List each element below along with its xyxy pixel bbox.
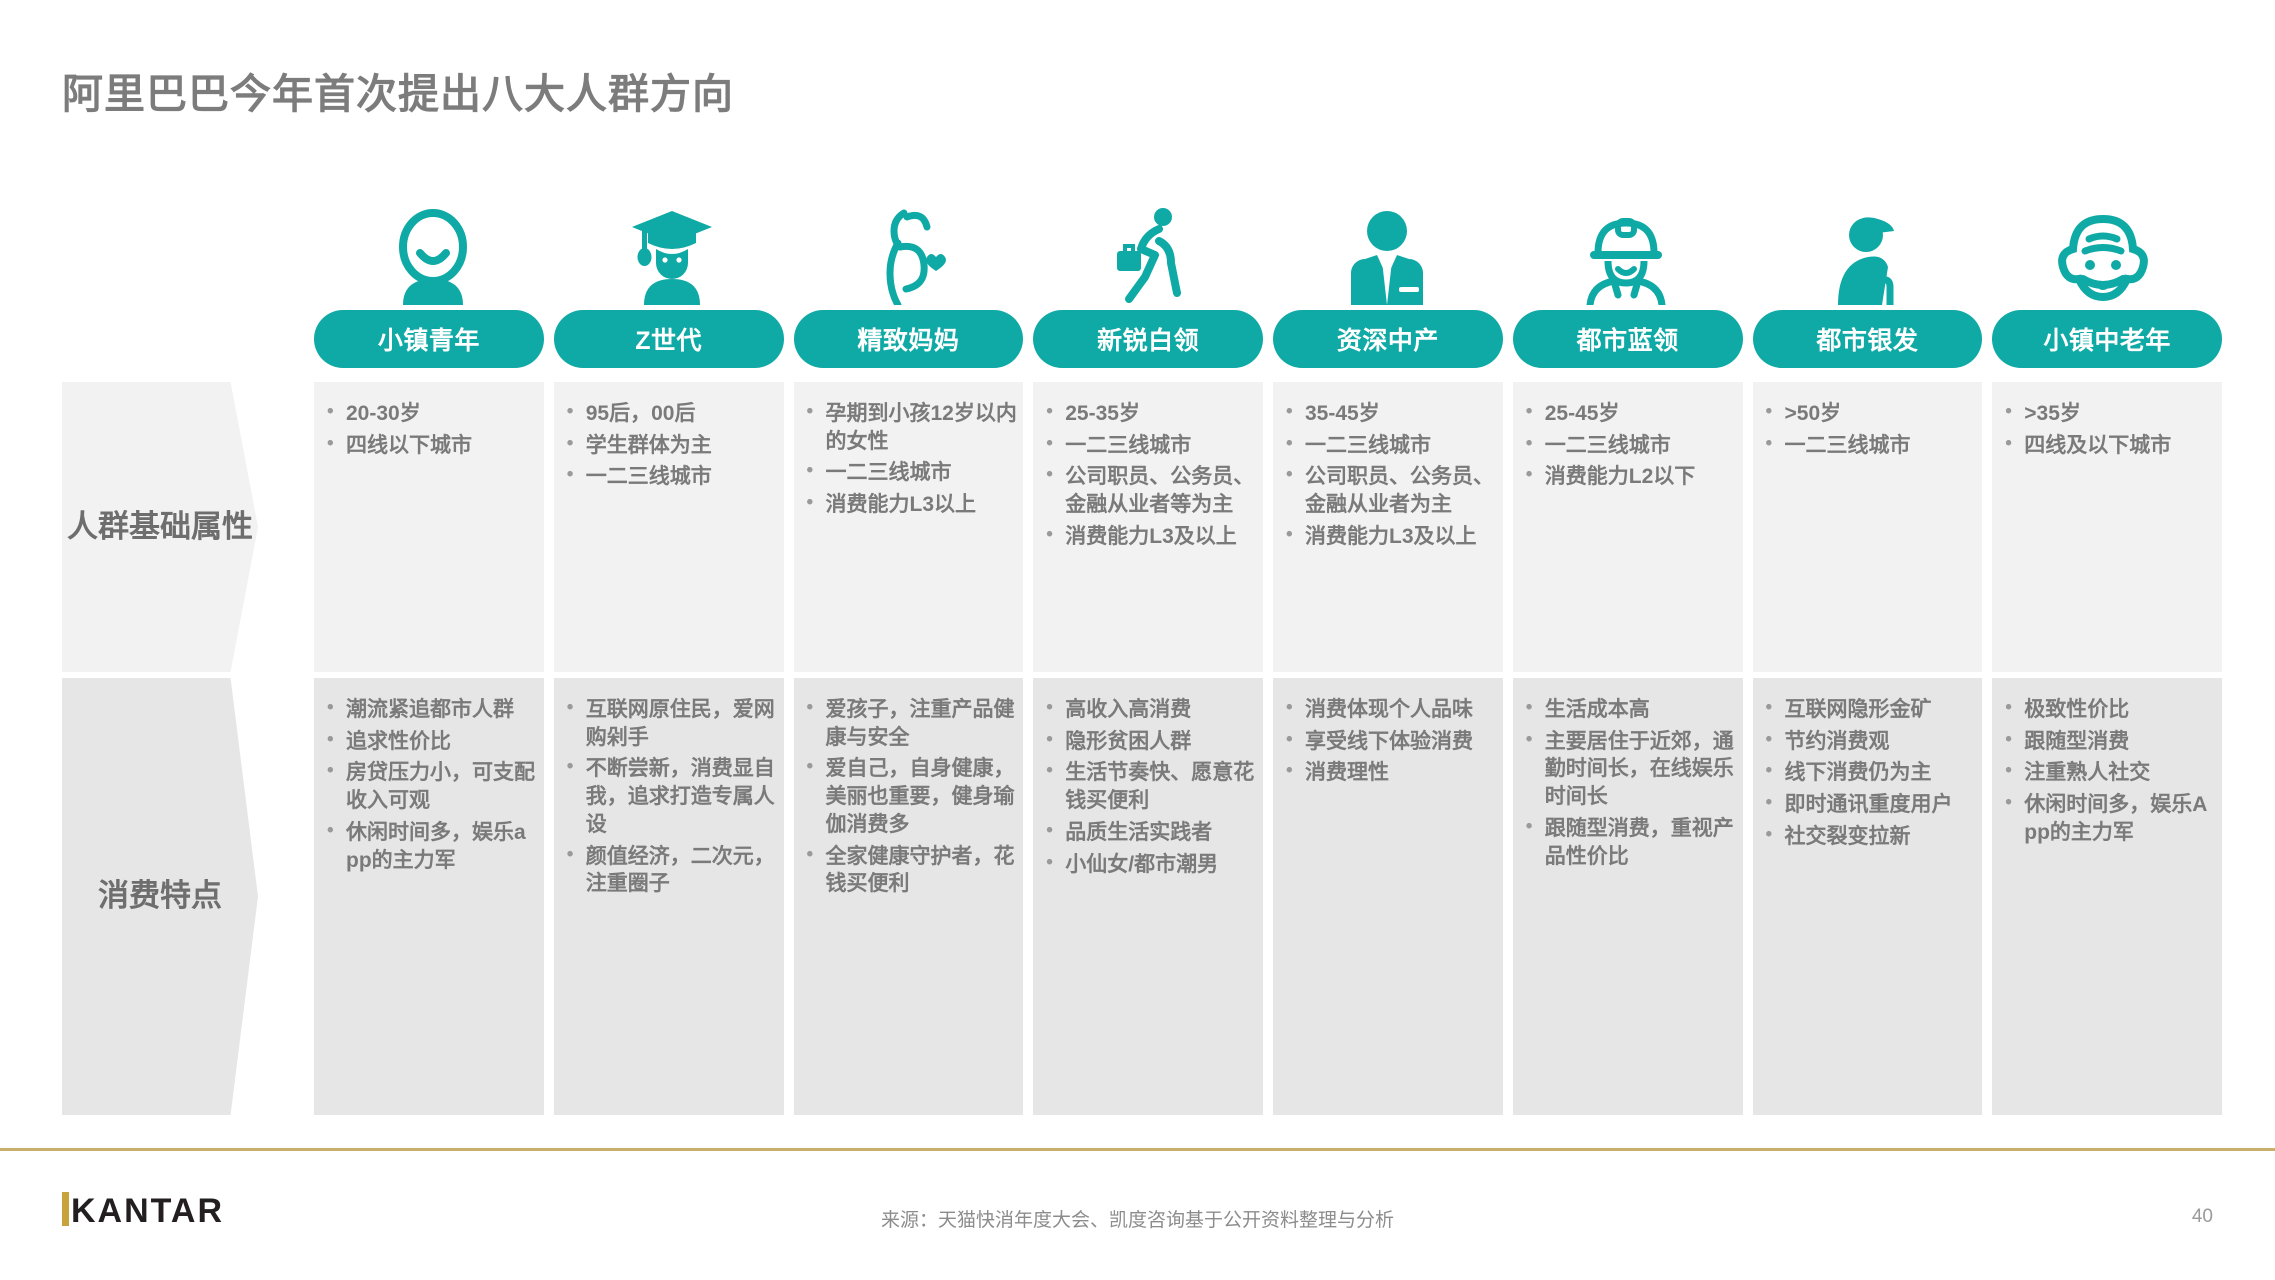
bullet-item: 生活成本高 <box>1519 696 1737 724</box>
bullet-item: 孕期到小孩12岁以内的女性 <box>800 400 1018 455</box>
persona-header-senior-middle-class[interactable]: 资深中产 <box>1273 310 1503 368</box>
cell-demographics-urban-blue-collar: 25-45岁一二三线城市消费能力L2以下 <box>1513 382 1743 672</box>
bullet-item: 一二三线城市 <box>1519 432 1737 460</box>
bullet-item: 20-30岁 <box>320 400 538 428</box>
persona-header-urban-blue-collar[interactable]: 都市蓝领 <box>1513 310 1743 368</box>
bullet-item: 学生群体为主 <box>560 432 778 460</box>
icon-cell-small-town-youth <box>314 200 553 305</box>
bullet-item: 爱孩子，注重产品健康与安全 <box>800 696 1018 751</box>
cell-demographics-small-town-middle-aged: >35岁四线及以下城市 <box>1992 382 2222 672</box>
icon-cell-gen-z <box>553 200 792 305</box>
cell-demographics-urban-silver: >50岁一二三线城市 <box>1753 382 1983 672</box>
bullet-item: >35岁 <box>1998 400 2216 428</box>
bullet-item: 社交裂变拉新 <box>1759 823 1977 851</box>
bullet-item: 互联网原住民，爱网购剁手 <box>560 696 778 751</box>
bullet-item: 爱自己，自身健康，美丽也重要，健身瑜伽消费多 <box>800 755 1018 838</box>
icon-cell-new-white-collar <box>1030 200 1269 305</box>
bullet-item: 35-45岁 <box>1279 400 1497 428</box>
bullet-item: 消费能力L3及以上 <box>1279 523 1497 551</box>
cell-demographics-new-white-collar: 25-35岁一二三线城市公司职员、公务员、金融从业者等为主消费能力L3及以上 <box>1033 382 1263 672</box>
bullet-item: 25-45岁 <box>1519 400 1737 428</box>
bullet-item: 小仙女/都市潮男 <box>1039 851 1257 879</box>
round-face-person-icon <box>387 205 479 305</box>
running-briefcase-person-icon <box>1103 205 1195 305</box>
bullet-item: 即时通讯重度用户 <box>1759 791 1977 819</box>
bullet-item: 四线以下城市 <box>320 432 538 460</box>
elderly-person-cane-icon <box>1818 205 1910 305</box>
row-consumption: 潮流紧追都市人群追求性价比房贷压力小，可支配收入可观休闲时间多，娱乐app的主力… <box>314 678 2222 1115</box>
cell-demographics-senior-middle-class: 35-45岁一二三线城市公司职员、公务员、金融从业者为主消费能力L3及以上 <box>1273 382 1503 672</box>
icon-cell-exquisite-mom <box>791 200 1030 305</box>
slide-root: 阿里巴巴今年首次提出八大人群方向 <box>0 0 2275 1280</box>
bullet-item: 颜值经济，二次元，注重圈子 <box>560 843 778 898</box>
persona-header-new-white-collar[interactable]: 新锐白领 <box>1033 310 1263 368</box>
row-label-demographics: 人群基础属性 <box>62 382 258 672</box>
elder-face-beard-icon <box>2057 205 2149 305</box>
bullet-item: 消费理性 <box>1279 759 1497 787</box>
icon-cell-small-town-middle-aged <box>1984 200 2223 305</box>
bullet-item: 一二三线城市 <box>1279 432 1497 460</box>
persona-header-urban-silver[interactable]: 都市银发 <box>1753 310 1983 368</box>
source-note: 来源：天猫快消年度大会、凯度咨询基于公开资料整理与分析 <box>0 1205 2275 1232</box>
bullet-item: 全家健康守护者，花钱买便利 <box>800 843 1018 898</box>
bullet-item: 生活节奏快、愿意花钱买便利 <box>1039 759 1257 814</box>
hardhat-worker-icon <box>1580 205 1672 305</box>
bullet-item: 一二三线城市 <box>1039 432 1257 460</box>
cell-demographics-small-town-youth: 20-30岁四线以下城市 <box>314 382 544 672</box>
bullet-item: 互联网隐形金矿 <box>1759 696 1977 724</box>
bullet-item: 一二三线城市 <box>800 459 1018 487</box>
bullet-item: 极致性价比 <box>1998 696 2216 724</box>
bullet-item: 一二三线城市 <box>560 463 778 491</box>
bullet-item: 公司职员、公务员、金融从业者为主 <box>1279 463 1497 518</box>
bullet-item: 一二三线城市 <box>1759 432 1977 460</box>
bullet-item: 高收入高消费 <box>1039 696 1257 724</box>
bullet-item: 注重熟人社交 <box>1998 759 2216 787</box>
cell-consumption-small-town-youth: 潮流紧追都市人群追求性价比房贷压力小，可支配收入可观休闲时间多，娱乐app的主力… <box>314 678 544 1115</box>
bullet-item: >50岁 <box>1759 400 1977 428</box>
businessman-suit-icon <box>1341 205 1433 305</box>
bullet-item: 休闲时间多，娱乐App的主力军 <box>1998 791 2216 846</box>
bullet-item: 主要居住于近郊，通勤时间长，在线娱乐时间长 <box>1519 728 1737 811</box>
bullet-item: 消费体现个人品味 <box>1279 696 1497 724</box>
matrix-body: 人群基础属性 消费特点 20-30岁四线以下城市 95后，00后学生群体为主一二… <box>62 382 2222 1115</box>
persona-header-exquisite-mom[interactable]: 精致妈妈 <box>794 310 1024 368</box>
persona-header-gen-z[interactable]: Z世代 <box>554 310 784 368</box>
bullet-item: 线下消费仍为主 <box>1759 759 1977 787</box>
cell-demographics-exquisite-mom: 孕期到小孩12岁以内的女性一二三线城市消费能力L3以上 <box>794 382 1024 672</box>
cell-consumption-senior-middle-class: 消费体现个人品味享受线下体验消费消费理性 <box>1273 678 1503 1115</box>
pregnant-woman-icon <box>864 205 956 305</box>
bullet-item: 休闲时间多，娱乐app的主力军 <box>320 819 538 874</box>
persona-matrix: 小镇青年 Z世代 精致妈妈 新锐白领 资深中产 都市蓝领 都市银发 小镇中老年 … <box>62 200 2222 1115</box>
cell-consumption-exquisite-mom: 爱孩子，注重产品健康与安全爱自己，自身健康，美丽也重要，健身瑜伽消费多全家健康守… <box>794 678 1024 1115</box>
bullet-item: 享受线下体验消费 <box>1279 728 1497 756</box>
bullet-item: 品质生活实践者 <box>1039 819 1257 847</box>
bullet-item: 跟随型消费，重视产品性价比 <box>1519 815 1737 870</box>
persona-header-small-town-middle-aged[interactable]: 小镇中老年 <box>1992 310 2222 368</box>
bullet-item: 跟随型消费 <box>1998 728 2216 756</box>
graduate-student-icon <box>626 205 718 305</box>
cell-consumption-urban-silver: 互联网隐形金矿节约消费观线下消费仍为主即时通讯重度用户社交裂变拉新 <box>1753 678 1983 1115</box>
row-label-consumption: 消费特点 <box>62 678 258 1115</box>
bullet-item: 追求性价比 <box>320 728 538 756</box>
bullet-item: 25-35岁 <box>1039 400 1257 428</box>
bullet-item: 隐形贫困人群 <box>1039 728 1257 756</box>
footer-divider <box>0 1148 2275 1151</box>
persona-header-small-town-youth[interactable]: 小镇青年 <box>314 310 544 368</box>
bullet-item: 消费能力L3以上 <box>800 491 1018 519</box>
cell-consumption-new-white-collar: 高收入高消费隐形贫困人群生活节奏快、愿意花钱买便利品质生活实践者小仙女/都市潮男 <box>1033 678 1263 1115</box>
bullet-item: 四线及以下城市 <box>1998 432 2216 460</box>
icon-cell-senior-middle-class <box>1268 200 1507 305</box>
cell-consumption-urban-blue-collar: 生活成本高主要居住于近郊，通勤时间长，在线娱乐时间长跟随型消费，重视产品性价比 <box>1513 678 1743 1115</box>
bullet-item: 潮流紧追都市人群 <box>320 696 538 724</box>
bullet-item: 消费能力L3及以上 <box>1039 523 1257 551</box>
bullet-item: 房贷压力小，可支配收入可观 <box>320 759 538 814</box>
page-number: 40 <box>2192 1206 2213 1228</box>
bullet-item: 不断尝新，消费显自我，追求打造专属人设 <box>560 755 778 838</box>
bullet-item: 节约消费观 <box>1759 728 1977 756</box>
persona-header-row: 小镇青年 Z世代 精致妈妈 新锐白领 资深中产 都市蓝领 都市银发 小镇中老年 <box>314 310 2222 368</box>
cell-consumption-small-town-middle-aged: 极致性价比跟随型消费注重熟人社交休闲时间多，娱乐App的主力军 <box>1992 678 2222 1115</box>
bullet-item: 公司职员、公务员、金融从业者等为主 <box>1039 463 1257 518</box>
row-demographics: 20-30岁四线以下城市 95后，00后学生群体为主一二三线城市 孕期到小孩12… <box>314 382 2222 672</box>
icon-strip <box>314 200 2222 305</box>
cell-consumption-gen-z: 互联网原住民，爱网购剁手不断尝新，消费显自我，追求打造专属人设颜值经济，二次元，… <box>554 678 784 1115</box>
icon-cell-urban-silver <box>1745 200 1984 305</box>
cell-demographics-gen-z: 95后，00后学生群体为主一二三线城市 <box>554 382 784 672</box>
icon-cell-urban-blue-collar <box>1507 200 1746 305</box>
bullet-item: 消费能力L2以下 <box>1519 463 1737 491</box>
page-title: 阿里巴巴今年首次提出八大人群方向 <box>62 60 734 120</box>
bullet-item: 95后，00后 <box>560 400 778 428</box>
